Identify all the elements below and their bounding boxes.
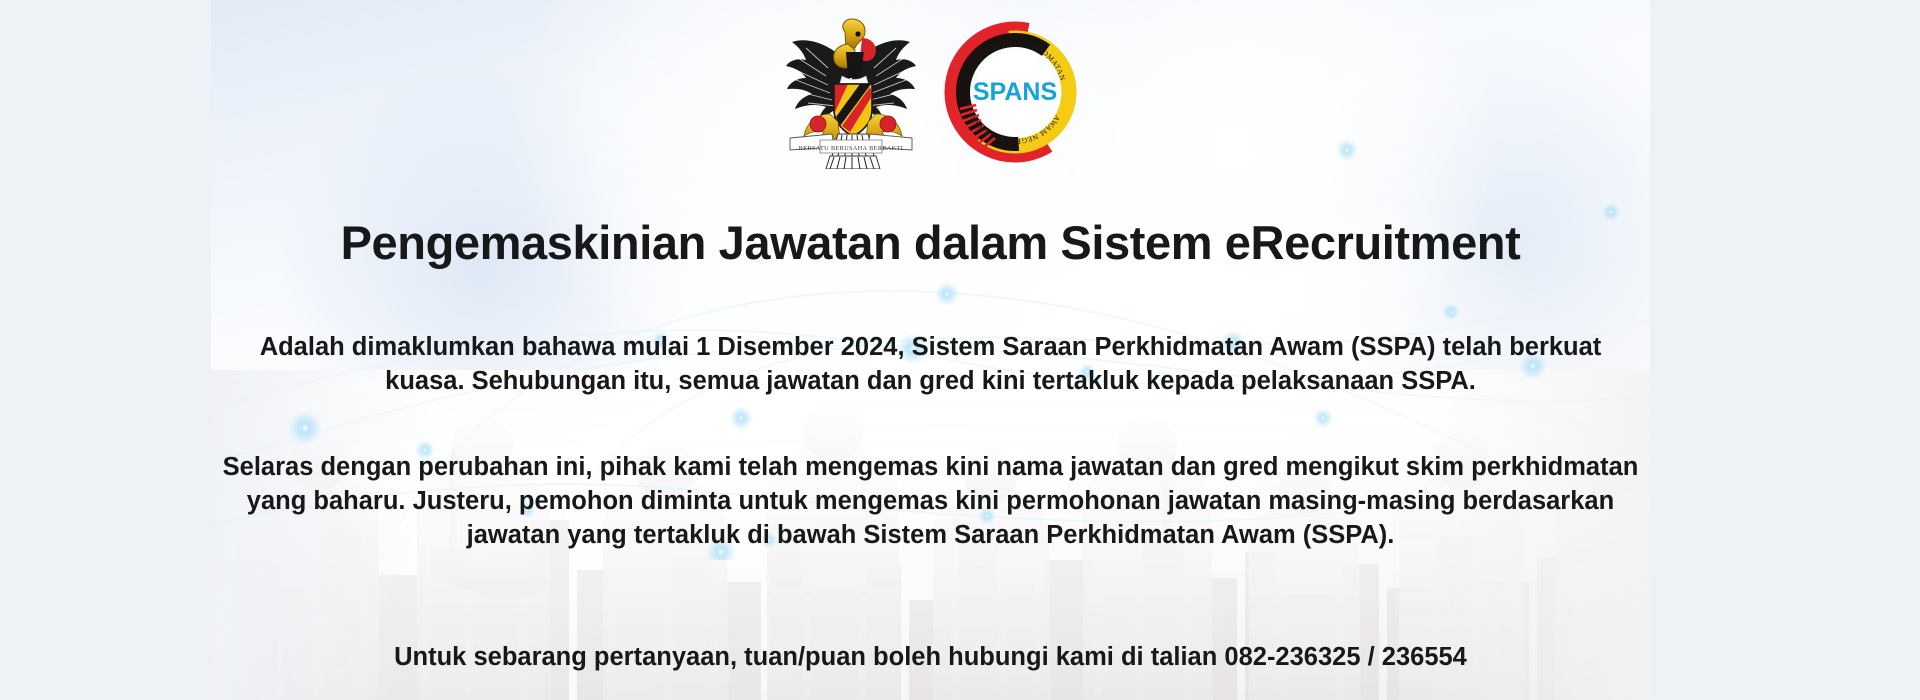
- page-root: BERSATU BERUSAHA BERBAKTI: [0, 0, 1920, 700]
- announcement-banner: BERSATU BERUSAHA BERBAKTI: [211, 0, 1650, 700]
- announcement-paragraph-2: Selaras dengan perubahan ini, pihak kami…: [221, 450, 1641, 552]
- announcement-paragraph-1: Adalah dimaklumkan bahawa mulai 1 Disemb…: [221, 330, 1641, 398]
- contact-line: Untuk sebarang pertanyaan, tuan/puan bol…: [211, 643, 1650, 672]
- announcement-content: Pengemaskinian Jawatan dalam Sistem eRec…: [211, 0, 1650, 700]
- page-title: Pengemaskinian Jawatan dalam Sistem eRec…: [211, 215, 1650, 270]
